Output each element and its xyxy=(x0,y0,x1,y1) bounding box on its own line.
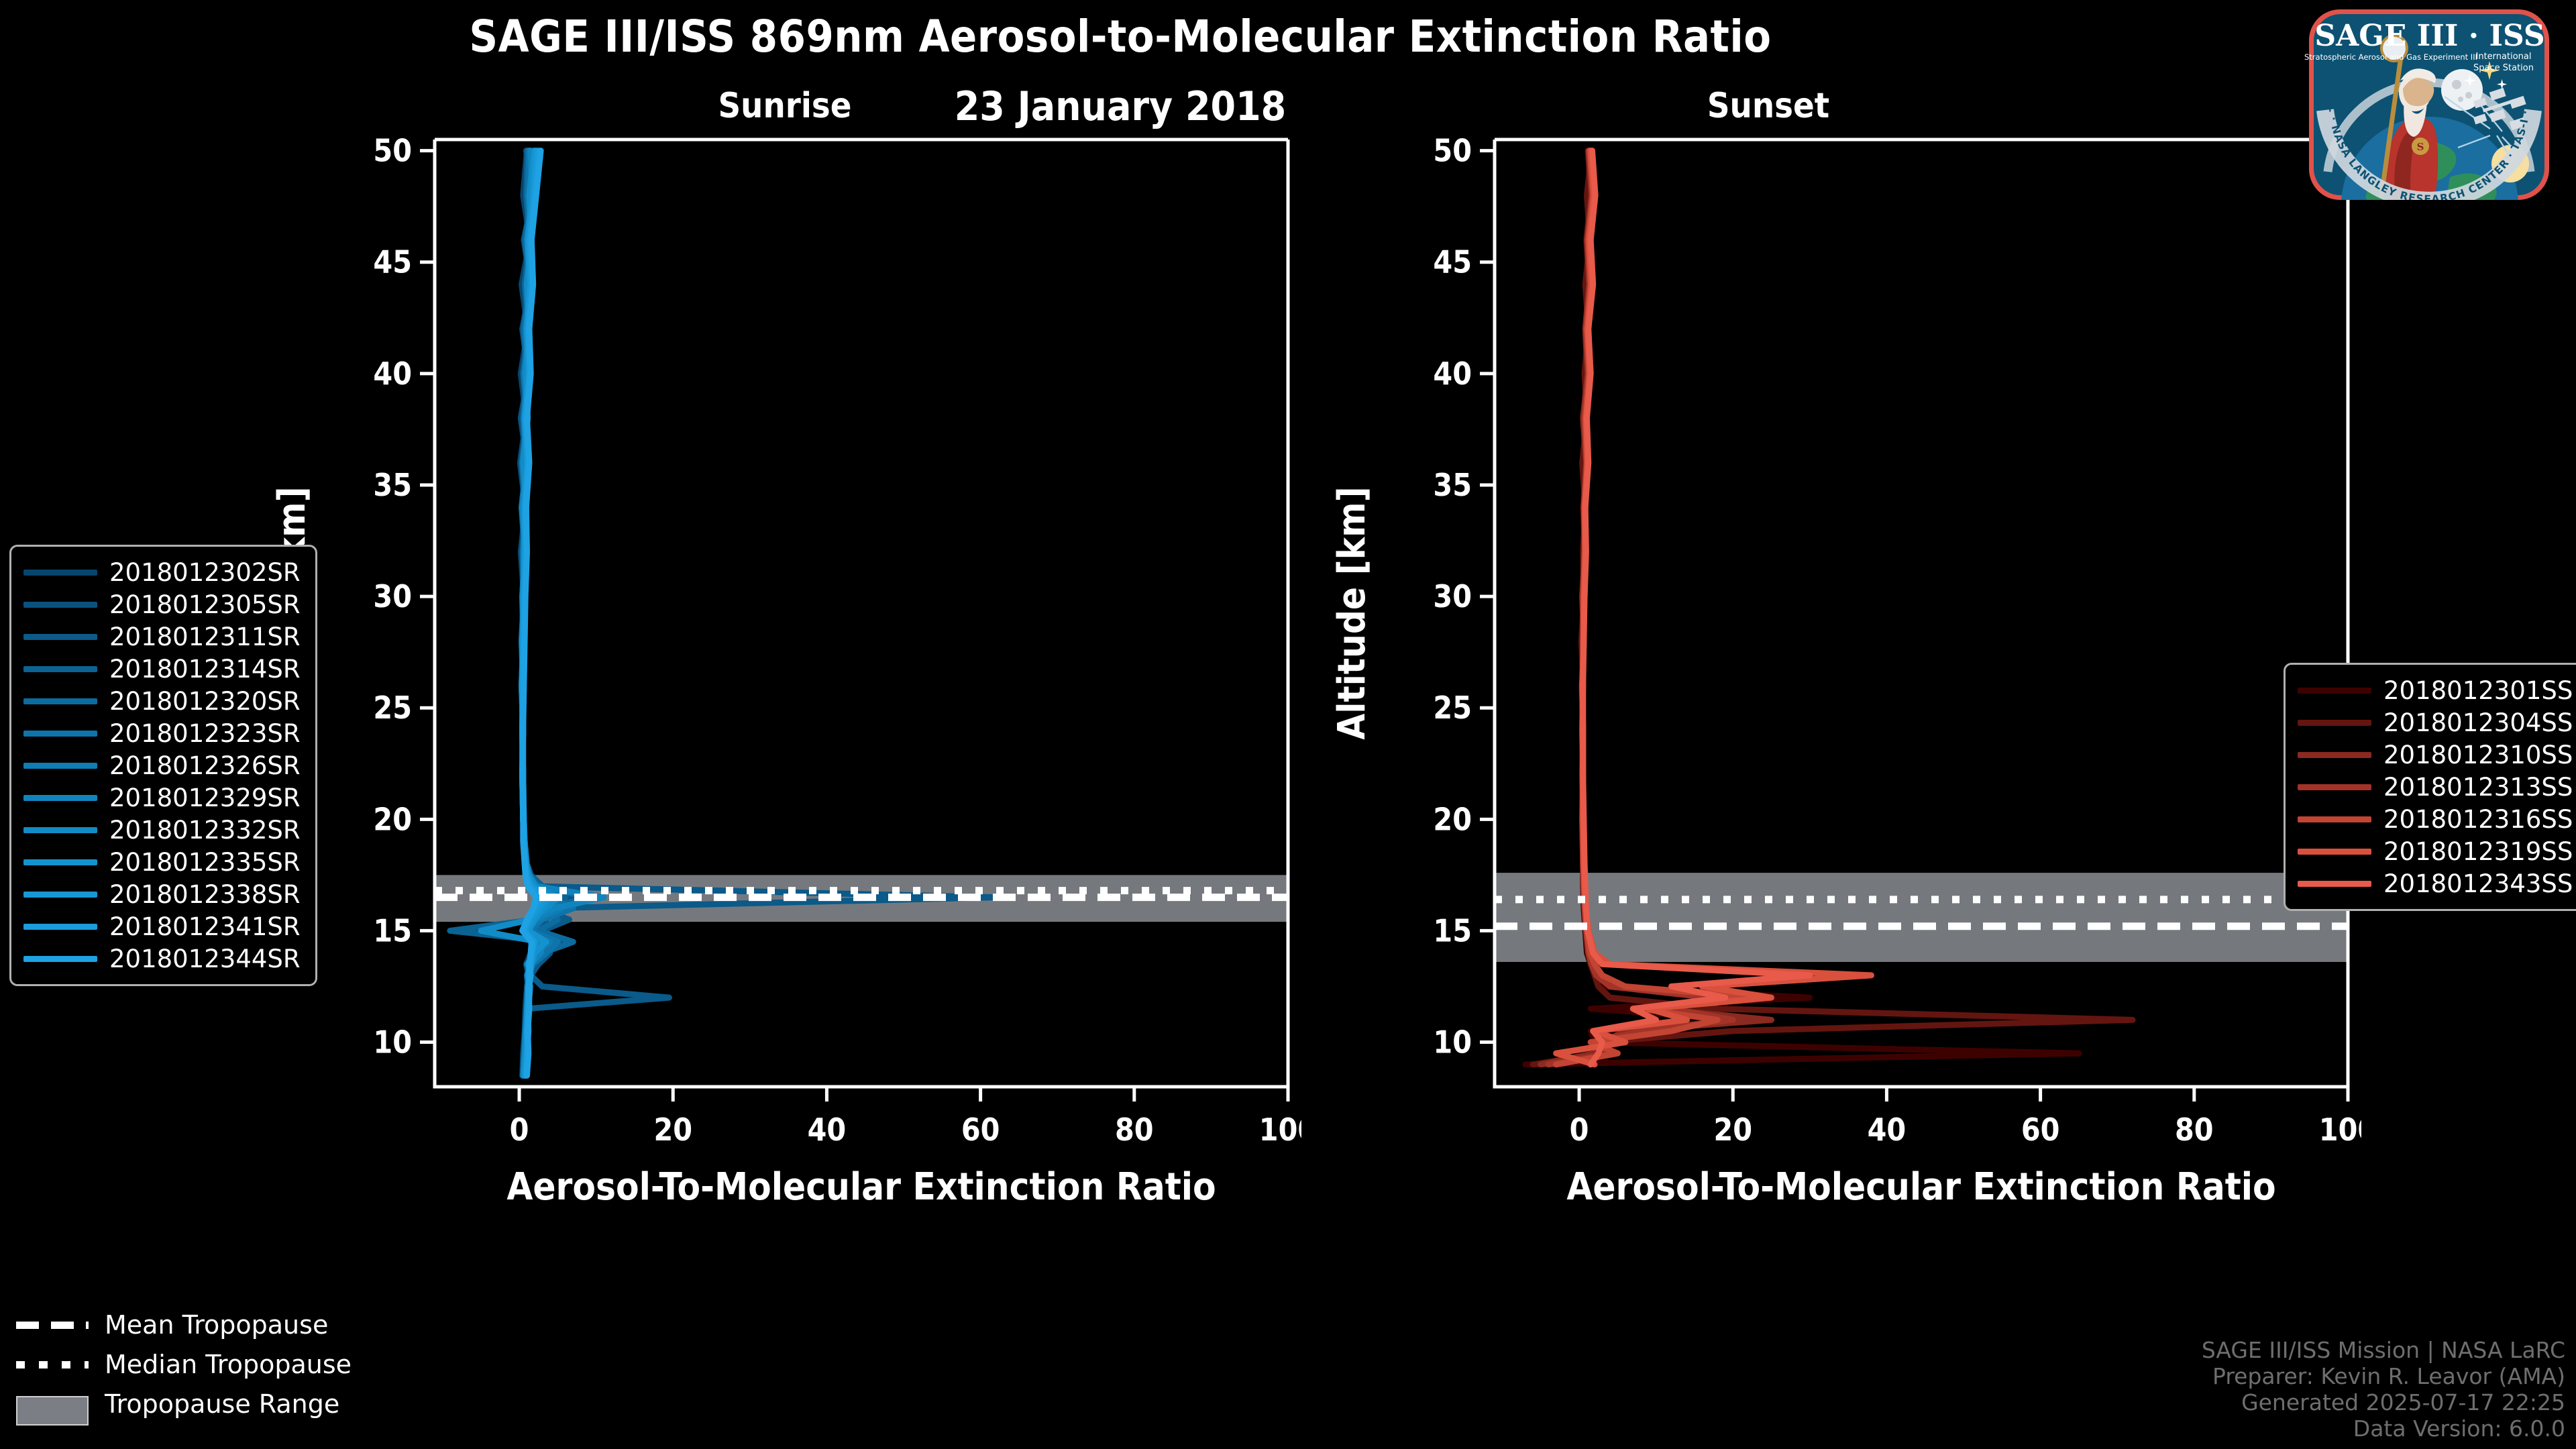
legend-color-swatch xyxy=(23,795,97,801)
legend-color-swatch xyxy=(2298,816,2371,822)
legend-color-swatch xyxy=(23,634,97,640)
y-axis-tick-label: 20 xyxy=(1433,801,1472,837)
sage-iii-iss-mission-patch-logo: S BALL · NASA LANGLEY RESEARCH CENTER · … xyxy=(2289,4,2571,205)
x-axis-title: Aerosol-To-Molecular Extinction Ratio xyxy=(506,1165,1216,1209)
x-axis-tick-label: 20 xyxy=(653,1112,692,1148)
legend-label: 2018012329SR xyxy=(109,784,301,812)
legend-sunset-item[interactable]: 2018012313SS xyxy=(2298,771,2573,803)
y-axis-tick-label: 20 xyxy=(373,801,412,837)
x-axis-tick-label: 40 xyxy=(808,1112,847,1148)
x-axis-tick-label: 60 xyxy=(2021,1112,2060,1148)
legend-color-swatch xyxy=(2298,688,2371,694)
y-axis-tick-label: 35 xyxy=(1433,467,1472,503)
x-axis-tick-label: 0 xyxy=(1570,1112,1589,1148)
y-axis-tick-label: 10 xyxy=(1433,1024,1472,1061)
x-axis-tick-label: 40 xyxy=(1868,1112,1907,1148)
legend-color-swatch xyxy=(23,666,97,672)
legend-label: 2018012341SR xyxy=(109,912,301,941)
legend-label: 2018012311SR xyxy=(109,623,301,651)
legend-sunrise-item[interactable]: 2018012341SR xyxy=(23,910,301,943)
plot-sunrise: 101520253035404550020406080100Aerosol-To… xyxy=(255,127,1301,1268)
legend-label: 2018012332SR xyxy=(109,816,301,845)
y-axis-tick-label: 25 xyxy=(1433,690,1472,726)
legend-color-swatch xyxy=(2298,720,2371,726)
y-axis-tick-label: 30 xyxy=(373,578,412,614)
panel-heading-sunset: Sunset xyxy=(1654,86,1882,126)
data-series-line xyxy=(522,195,996,1075)
legend-label-mean-tropopause: Mean Tropopause xyxy=(105,1310,328,1340)
legend-label: 2018012335SR xyxy=(109,848,301,877)
legend-label: 2018012310SS xyxy=(2383,741,2573,769)
dotted-line-icon xyxy=(16,1355,89,1374)
legend-sunrise-item[interactable]: 2018012329SR xyxy=(23,782,301,814)
y-axis-tick-label: 15 xyxy=(373,912,412,949)
svg-text:S: S xyxy=(2417,141,2424,153)
x-axis-tick-label: 20 xyxy=(1713,1112,1752,1148)
legend-label-median-tropopause: Median Tropopause xyxy=(105,1350,352,1379)
logo-subtitle-left: Stratospheric Aerosol and Gas Experiment… xyxy=(2304,52,2477,62)
legend-label: 2018012301SS xyxy=(2383,676,2573,705)
legend-sunrise-item[interactable]: 2018012302SR xyxy=(23,556,301,588)
legend-label: 2018012338SR xyxy=(109,880,301,909)
legend-sunset-item[interactable]: 2018012319SS xyxy=(2298,835,2573,867)
legend-item-tropopause-range: Tropopause Range xyxy=(16,1384,352,1424)
y-axis-tick-label: 45 xyxy=(1433,244,1472,280)
legend-color-swatch xyxy=(23,731,97,737)
legend-sunrise-item[interactable]: 2018012311SR xyxy=(23,621,301,653)
y-axis-tick-label: 50 xyxy=(1433,133,1472,169)
legend-color-swatch xyxy=(23,602,97,608)
y-axis-title: Altitude [km] xyxy=(1330,486,1374,739)
footer-line-preparer: Preparer: Kevin R. Leavor (AMA) xyxy=(2202,1364,2565,1390)
legend-label: 2018012313SS xyxy=(2383,773,2573,802)
legend-color-swatch xyxy=(2298,752,2371,758)
y-axis-tick-label: 35 xyxy=(373,467,412,503)
legend-label: 2018012320SR xyxy=(109,687,301,716)
page-title: SAGE III/ISS 869nm Aerosol-to-Molecular … xyxy=(0,11,2241,62)
legend-sunset-item[interactable]: 2018012310SS xyxy=(2298,739,2573,771)
legend-color-swatch xyxy=(2298,881,2371,887)
legend-color-swatch xyxy=(23,763,97,769)
y-axis-tick-label: 50 xyxy=(373,133,412,169)
footer-line-generated: Generated 2025-07-17 22:25 xyxy=(2202,1390,2565,1416)
x-axis-title: Aerosol-To-Molecular Extinction Ratio xyxy=(1566,1165,2275,1209)
logo-subtitle-right-2: Space Station xyxy=(2473,63,2534,73)
legend-sunset-item[interactable]: 2018012304SS xyxy=(2298,706,2573,739)
date-subtitle: 23 January 2018 xyxy=(0,83,2241,130)
legend-color-swatch xyxy=(23,859,97,865)
legend-item-median-tropopause: Median Tropopause xyxy=(16,1344,352,1384)
legend-sunrise[interactable]: 2018012302SR2018012305SR2018012311SR2018… xyxy=(9,545,317,986)
dashed-line-icon xyxy=(16,1316,89,1334)
legend-sunrise-item[interactable]: 2018012338SR xyxy=(23,878,301,910)
legend-sunrise-item[interactable]: 2018012314SR xyxy=(23,653,301,685)
legend-sunrise-item[interactable]: 2018012335SR xyxy=(23,846,301,878)
footer-line-mission: SAGE III/ISS Mission | NASA LaRC xyxy=(2202,1338,2565,1364)
tropopause-legend: Mean Tropopause Median Tropopause Tropop… xyxy=(16,1305,352,1424)
x-axis-tick-label: 100 xyxy=(2319,1112,2361,1148)
legend-color-swatch xyxy=(23,892,97,898)
panel-heading-sunrise: Sunrise xyxy=(671,86,899,126)
x-axis-tick-label: 80 xyxy=(1115,1112,1154,1148)
legend-label: 2018012343SS xyxy=(2383,869,2573,898)
legend-sunset-item[interactable]: 2018012343SS xyxy=(2298,867,2573,900)
legend-color-swatch xyxy=(23,570,97,576)
legend-sunrise-item[interactable]: 2018012344SR xyxy=(23,943,301,975)
y-axis-tick-label: 10 xyxy=(373,1024,412,1061)
tropopause-range-band xyxy=(1495,873,2348,962)
legend-label: 2018012304SS xyxy=(2383,708,2573,737)
y-axis-tick-label: 15 xyxy=(1433,912,1472,949)
legend-color-swatch xyxy=(2298,849,2371,855)
legend-sunrise-item[interactable]: 2018012305SR xyxy=(23,588,301,621)
legend-color-swatch xyxy=(23,698,97,704)
legend-color-swatch xyxy=(2298,784,2371,790)
legend-color-swatch xyxy=(23,924,97,930)
footer-credits: SAGE III/ISS Mission | NASA LaRC Prepare… xyxy=(2202,1338,2565,1442)
figure-root: SAGE III/ISS 869nm Aerosol-to-Molecular … xyxy=(0,0,2576,1449)
x-axis-tick-label: 100 xyxy=(1259,1112,1301,1148)
x-axis-tick-label: 60 xyxy=(961,1112,1000,1148)
logo-subtitle-right-1: International xyxy=(2476,52,2532,62)
plot-sunset: 101520253035404550020406080100Aerosol-To… xyxy=(1315,127,2361,1268)
legend-sunset[interactable]: 2018012301SS2018012304SS2018012310SS2018… xyxy=(2284,663,2576,911)
legend-label: 2018012305SR xyxy=(109,590,301,619)
legend-label: 2018012319SS xyxy=(2383,837,2573,866)
legend-item-mean-tropopause: Mean Tropopause xyxy=(16,1305,352,1344)
filled-band-icon xyxy=(16,1395,89,1413)
legend-color-swatch xyxy=(23,827,97,833)
y-axis-tick-label: 30 xyxy=(1433,578,1472,614)
legend-label: 2018012302SR xyxy=(109,558,301,587)
y-axis-tick-label: 40 xyxy=(373,356,412,392)
legend-label: 2018012314SR xyxy=(109,655,301,684)
y-axis-tick-label: 45 xyxy=(373,244,412,280)
legend-label: 2018012323SR xyxy=(109,719,301,748)
legend-label: 2018012316SS xyxy=(2383,805,2573,834)
legend-label: 2018012326SR xyxy=(109,751,301,780)
x-axis-tick-label: 80 xyxy=(2175,1112,2214,1148)
x-axis-tick-label: 0 xyxy=(510,1112,529,1148)
legend-sunrise-item[interactable]: 2018012320SR xyxy=(23,685,301,717)
footer-line-version: Data Version: 6.0.0 xyxy=(2202,1416,2565,1442)
legend-label: 2018012344SR xyxy=(109,945,301,973)
y-axis-tick-label: 40 xyxy=(1433,356,1472,392)
legend-sunrise-item[interactable]: 2018012326SR xyxy=(23,749,301,782)
legend-sunset-item[interactable]: 2018012316SS xyxy=(2298,803,2573,835)
legend-sunrise-item[interactable]: 2018012323SR xyxy=(23,717,301,749)
legend-sunrise-item[interactable]: 2018012332SR xyxy=(23,814,301,846)
legend-sunset-item[interactable]: 2018012301SS xyxy=(2298,674,2573,706)
legend-color-swatch xyxy=(23,956,97,962)
legend-label-tropopause-range: Tropopause Range xyxy=(105,1389,339,1419)
y-axis-tick-label: 25 xyxy=(373,690,412,726)
logo-title: SAGE III · ISS xyxy=(2314,19,2544,53)
